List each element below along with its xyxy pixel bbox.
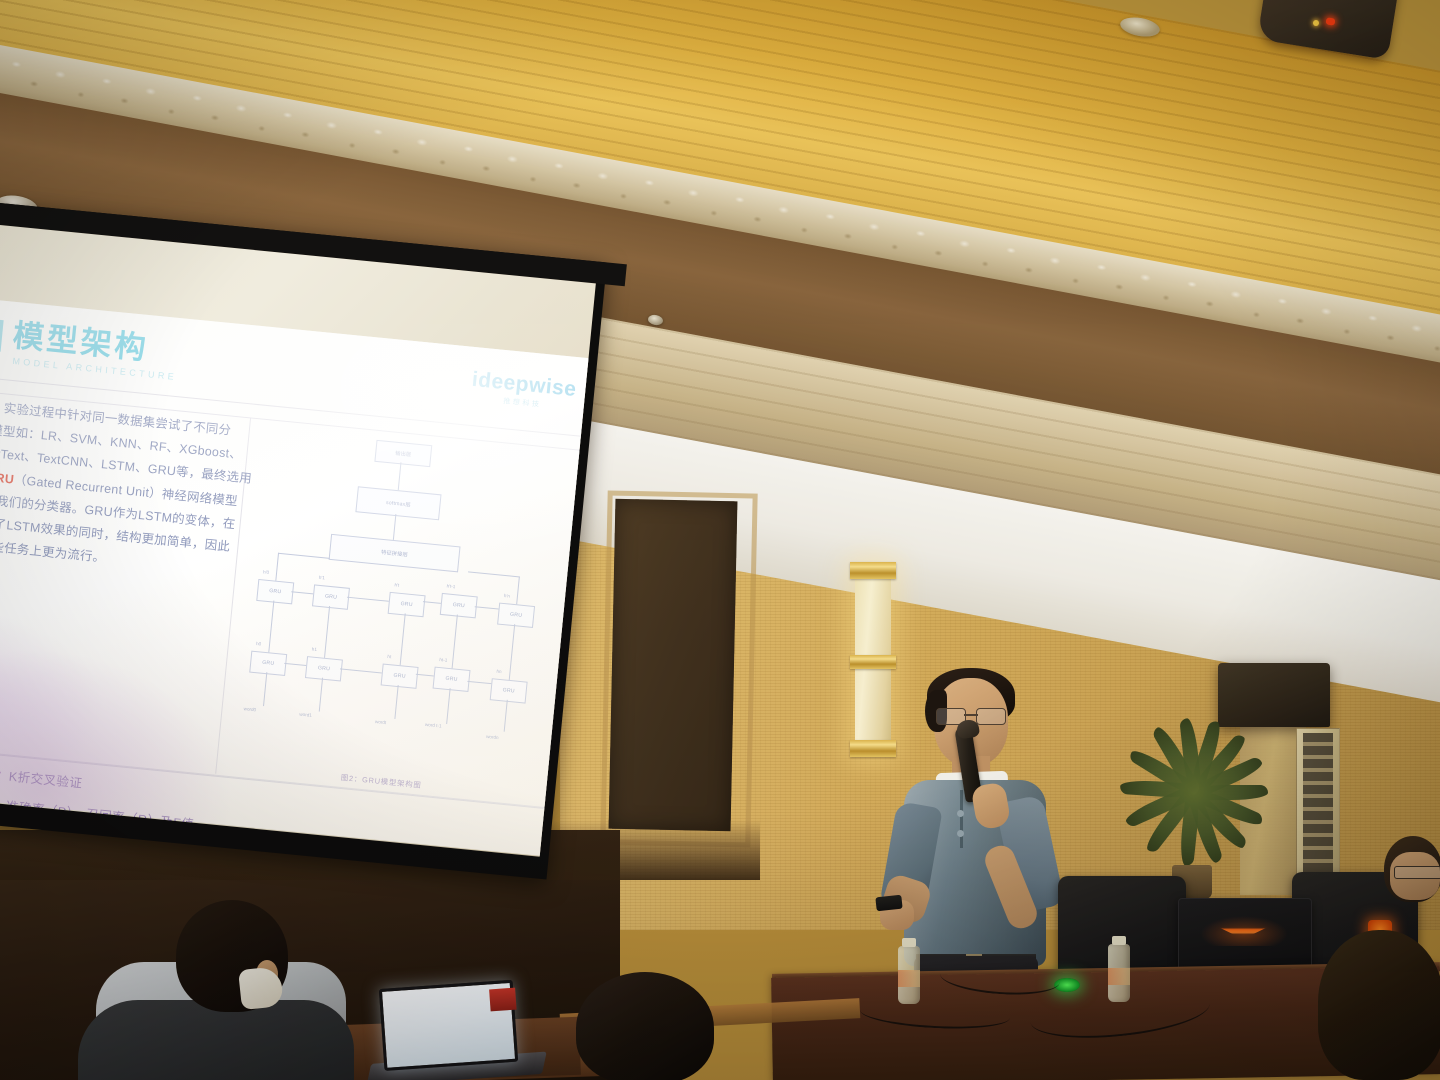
diagram-state-label: h′t (394, 582, 399, 587)
bottle-label (1108, 968, 1130, 985)
diagram-node-gru-forward: GRU (305, 656, 343, 681)
bottle-cap (1112, 936, 1126, 945)
gru-architecture-diagram: 输出层 softmax层 特征拼接层 GRU GRU GRU GRU GRU (225, 426, 572, 785)
diagram-node-gru-forward: GRU (249, 651, 287, 676)
diagram-state-label: h′1 (319, 575, 325, 581)
brand-logo: ideepwise 推想科技 (470, 369, 578, 413)
diagram-state-label: h′n (504, 593, 510, 599)
diagram-input-label: wordt (375, 719, 387, 725)
projector-status-led-yellow-icon (1313, 20, 1319, 26)
diagram-state-label: ht-1 (439, 657, 447, 663)
diagram-node-output: 输出层 (374, 440, 432, 467)
rack-shelves (1303, 733, 1333, 893)
diagram-input-label: wordn (486, 734, 499, 740)
audience-laptop[interactable] (371, 979, 537, 1080)
conference-photo-scene: M 模型架构 MODEL ARCHITECTURE ideepwise 推想科技… (0, 0, 1440, 1080)
water-bottle[interactable] (898, 946, 920, 1004)
audience-person-glasses (1394, 866, 1440, 879)
potted-plant (1112, 700, 1292, 890)
diagram-state-label: h′0 (263, 569, 269, 575)
presenter-shirt-button (957, 810, 964, 817)
presenter-clicker-remote[interactable] (875, 895, 902, 912)
diagram-state-label: h′t-1 (446, 583, 455, 589)
bottle-cap (902, 938, 916, 947)
sconce-brass-band-top (850, 562, 896, 579)
slide-meta-value: 准确率（P）、召回率（R）及F值 (5, 799, 194, 831)
diagram-state-label: ht (387, 654, 391, 659)
diagram-state-label: hn (496, 669, 502, 674)
slide-logo-mark: M (0, 309, 5, 358)
diagram-node-gru-forward: GRU (381, 663, 419, 688)
audience-person-head (576, 972, 714, 1080)
audience-person-head (1318, 930, 1440, 1080)
laptop-sticker-icon (489, 988, 516, 1012)
audience-person-shoulders (78, 1000, 354, 1080)
diagram-node-gru-backward: GRU (312, 584, 350, 609)
diagram-node-gru-backward: GRU (388, 592, 426, 617)
slide-text-column: 实验过程中针对同一数据集尝试了不同分 类模型如：LR、SVM、KNN、RF、XG… (0, 395, 248, 583)
projection-screen: M 模型架构 MODEL ARCHITECTURE ideepwise 推想科技… (0, 200, 607, 879)
slide-meta-value: K折交叉验证 (8, 770, 83, 791)
diagram-node-softmax: softmax层 (355, 486, 441, 520)
projection-screen-surface: M 模型架构 MODEL ARCHITECTURE ideepwise 推想科技… (0, 213, 597, 857)
room-door[interactable] (609, 499, 738, 831)
diagram-node-gru-backward: GRU (497, 603, 535, 628)
diagram-state-label: h1 (312, 647, 318, 652)
presenter-shirt-button (957, 830, 964, 837)
presentation-slide: M 模型架构 MODEL ARCHITECTURE ideepwise 推想科技… (0, 298, 597, 857)
diagram-node-gru-backward: GRU (440, 593, 478, 618)
diagram-input-label: word0 (243, 706, 256, 712)
projector-status-led-red-icon (1326, 17, 1336, 25)
diagram-input-label: word1 (299, 712, 312, 718)
diagram-node-gru-backward: GRU (256, 579, 294, 604)
diagram-node-gru-forward: GRU (433, 667, 471, 692)
diagram-node-concat: 特征拼接层 (329, 534, 461, 573)
diagram-node-gru-forward: GRU (490, 678, 528, 703)
diagram-input-label: word t-1 (425, 722, 442, 729)
highlight-term: GRU (0, 470, 15, 487)
presenter-shirt-placket (960, 790, 963, 848)
bottle-label (898, 970, 920, 987)
diagram-state-label: h0 (256, 641, 262, 646)
